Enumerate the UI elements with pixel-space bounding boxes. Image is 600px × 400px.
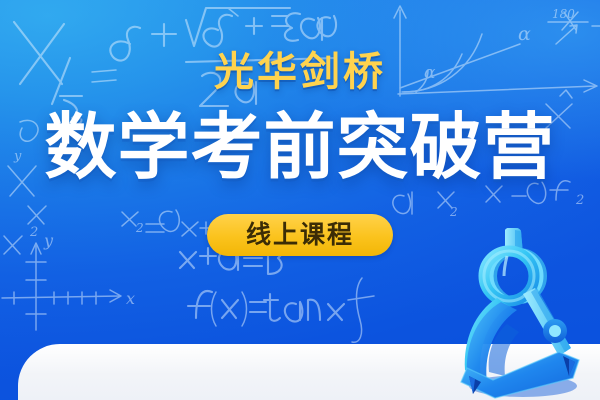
compass-illustration — [447, 228, 597, 400]
brand-title: 光华剑桥 — [0, 52, 600, 92]
page-title: 数学考前突破营 — [0, 112, 600, 184]
promo-poster: α α 180 2 y — [0, 0, 600, 400]
course-type-badge-label: 线上课程 — [246, 223, 354, 248]
course-type-badge: 线上课程 — [207, 214, 393, 256]
